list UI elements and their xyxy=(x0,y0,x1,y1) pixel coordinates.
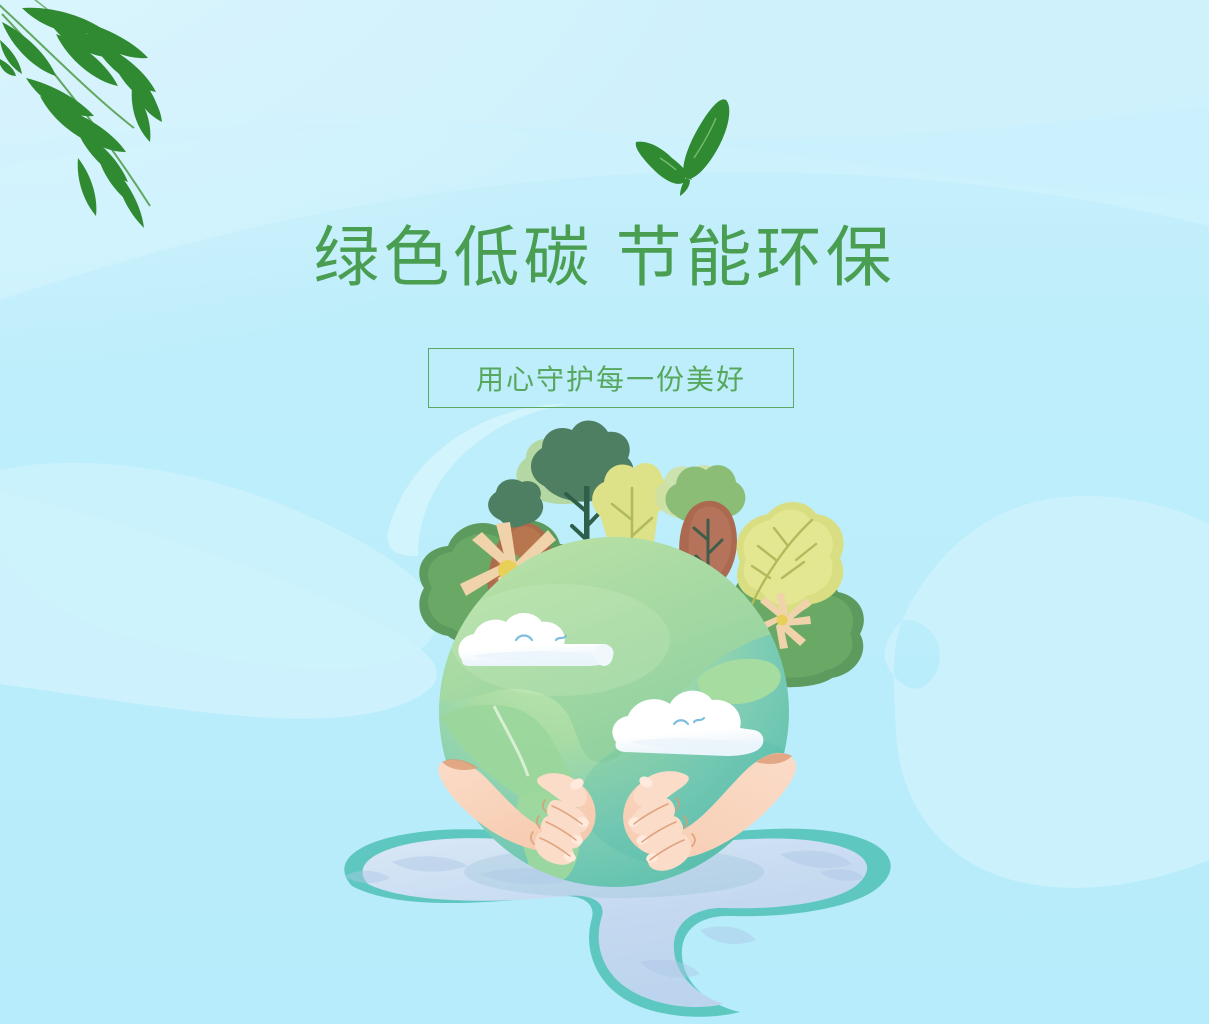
pinwheel-center xyxy=(777,615,788,626)
page-title: 绿色低碳 节能环保 xyxy=(0,222,1209,293)
hands-embracing-green-earth xyxy=(0,0,1209,1024)
cloud-end-cap xyxy=(595,644,613,666)
subtitle-text: 用心守护每一份美好 xyxy=(476,358,746,398)
tree-small-dark-bush xyxy=(488,479,543,527)
tree-large-yellow-leaf xyxy=(737,502,844,614)
subtitle-box: 用心守护每一份美好 xyxy=(428,348,794,408)
poster-canvas: 绿色低碳 节能环保 用心守护每一份美好 xyxy=(0,0,1209,1024)
